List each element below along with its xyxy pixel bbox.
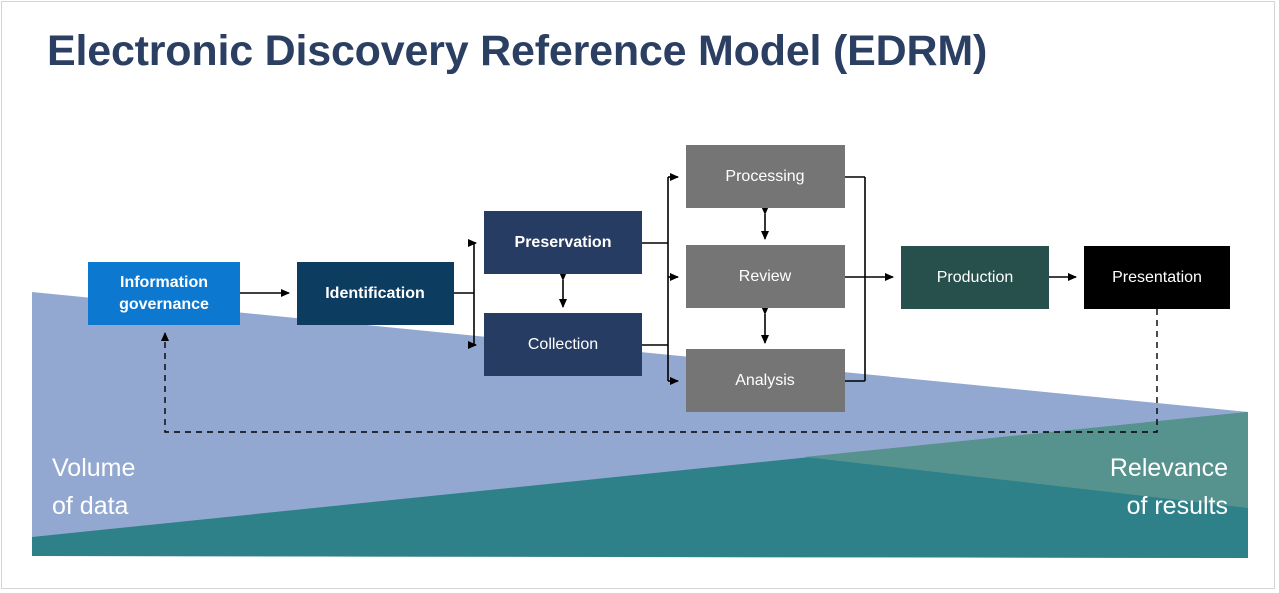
stage-label-preservation: Preservation xyxy=(515,234,612,251)
stage-information-governance[interactable]: Information governance xyxy=(88,262,240,325)
diagram-canvas: Volume of data Relevance of results xyxy=(0,0,1279,593)
stage-layer: Information governance Identification Pr… xyxy=(0,0,1279,593)
stage-processing[interactable]: Processing xyxy=(686,145,845,208)
stage-production[interactable]: Production xyxy=(901,246,1049,309)
stage-presentation[interactable]: Presentation xyxy=(1084,246,1230,309)
stage-label-information-governance-line1: Information xyxy=(120,274,208,291)
stage-label-review: Review xyxy=(739,268,792,285)
stage-label-production: Production xyxy=(937,269,1014,286)
stage-label-analysis: Analysis xyxy=(735,372,795,389)
stage-preservation[interactable]: Preservation xyxy=(484,211,642,274)
stage-collection[interactable]: Collection xyxy=(484,313,642,376)
page-title: Electronic Discovery Reference Model (ED… xyxy=(47,28,987,75)
stage-label-information-governance-line2: governance xyxy=(119,296,209,313)
stage-label-processing: Processing xyxy=(725,168,804,185)
stage-identification[interactable]: Identification xyxy=(297,262,454,325)
stage-analysis[interactable]: Analysis xyxy=(686,349,845,412)
stage-label-presentation: Presentation xyxy=(1112,269,1202,286)
stage-label-identification: Identification xyxy=(325,285,425,302)
stage-review[interactable]: Review xyxy=(686,245,845,308)
stage-label-collection: Collection xyxy=(528,336,598,353)
